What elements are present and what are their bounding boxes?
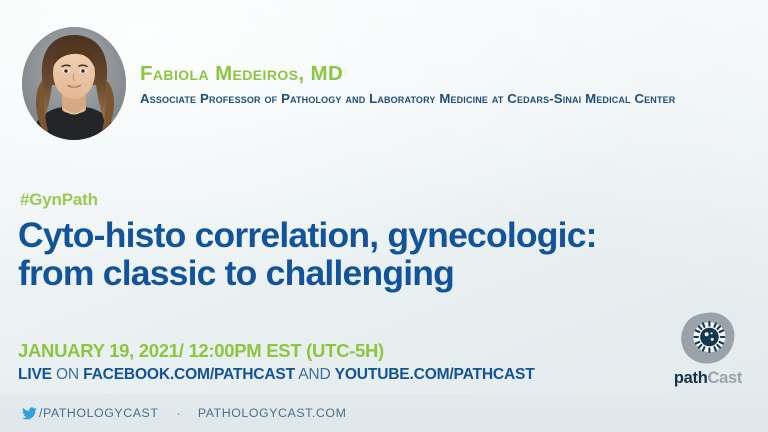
pathcast-eye-virus-logo [680,311,736,365]
logo-wordmark: pathCast [674,370,742,387]
and-label: AND [295,366,335,383]
twitter-bird-icon [22,407,37,420]
twitter-handle-label: /PATHOLOGYCAST [39,406,158,420]
website-item[interactable]: PATHOLOGYCAST.COM [198,406,347,420]
promo-slide: Fabiola Medeiros, MD Associate Professor… [0,0,768,432]
event-datetime: JANUARY 19, 2021/ 12:00PM EST (UTC-5H) [18,340,384,362]
youtube-url[interactable]: YOUTUBE.COM/PATHCAST [335,366,535,383]
logo-word-cast: Cast [708,369,743,387]
footer-bar: /PATHOLOGYCAST · PATHOLOGYCAST.COM [0,394,768,432]
facebook-url[interactable]: FACEBOOK.COM/PATHCAST [83,366,295,383]
twitter-handle-item[interactable]: /PATHOLOGYCAST [22,406,158,420]
speaker-header: Fabiola Medeiros, MD Associate Professor… [22,24,756,142]
website-label: PATHOLOGYCAST.COM [198,406,347,420]
live-label: LIVE [18,366,52,383]
pathcast-logo[interactable]: pathCast [662,302,754,386]
on-label: ON [52,366,83,383]
topic-hashtag: #GynPath [20,190,98,210]
speaker-text-block: Fabiola Medeiros, MD Associate Professor… [140,59,756,107]
broadcast-channels: LIVE ON FACEBOOK.COM/PATHCAST AND YOUTUB… [18,366,535,384]
speaker-photo [22,27,126,140]
page-title: Cyto-histo correlation, gynecologic: fro… [18,216,610,293]
logo-word-path: path [674,369,708,387]
footer-separator: · [176,407,180,420]
speaker-title: Associate Professor of Pathology and Lab… [140,91,756,108]
speaker-name: Fabiola Medeiros, MD [140,63,756,86]
avatar [22,27,126,140]
